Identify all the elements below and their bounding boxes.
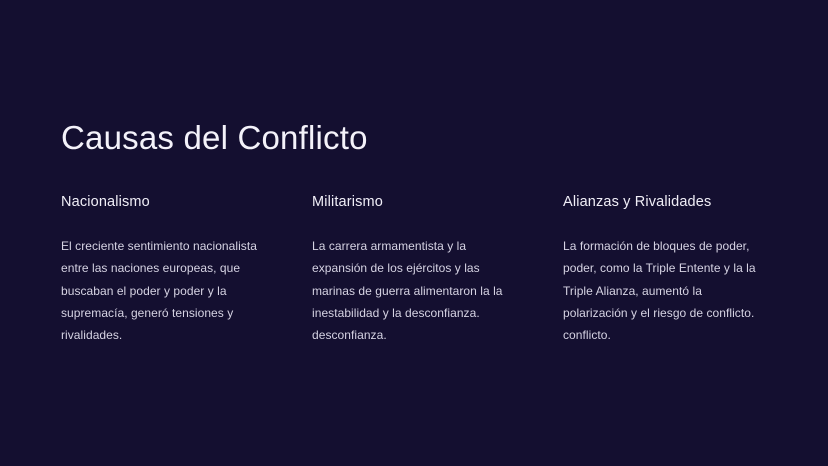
column-body-text: La carrera armamentista y la expansión d… <box>312 235 512 346</box>
column-heading: Nacionalismo <box>61 193 261 211</box>
presentation-slide: Causas del Conflicto Nacionalismo El cre… <box>0 0 828 466</box>
column-alianzas-y-rivalidades: Alianzas y Rivalidades La formación de b… <box>563 193 763 346</box>
columns-container: Nacionalismo El creciente sentimiento na… <box>61 193 767 346</box>
column-heading: Militarismo <box>312 193 512 211</box>
column-nacionalismo: Nacionalismo El creciente sentimiento na… <box>61 193 261 346</box>
page-title: Causas del Conflicto <box>61 118 368 158</box>
column-body-text: El creciente sentimiento nacionalista en… <box>61 235 261 346</box>
column-militarismo: Militarismo La carrera armamentista y la… <box>312 193 512 346</box>
column-heading: Alianzas y Rivalidades <box>563 193 763 211</box>
column-body-text: La formación de bloques de poder, poder,… <box>563 235 763 346</box>
